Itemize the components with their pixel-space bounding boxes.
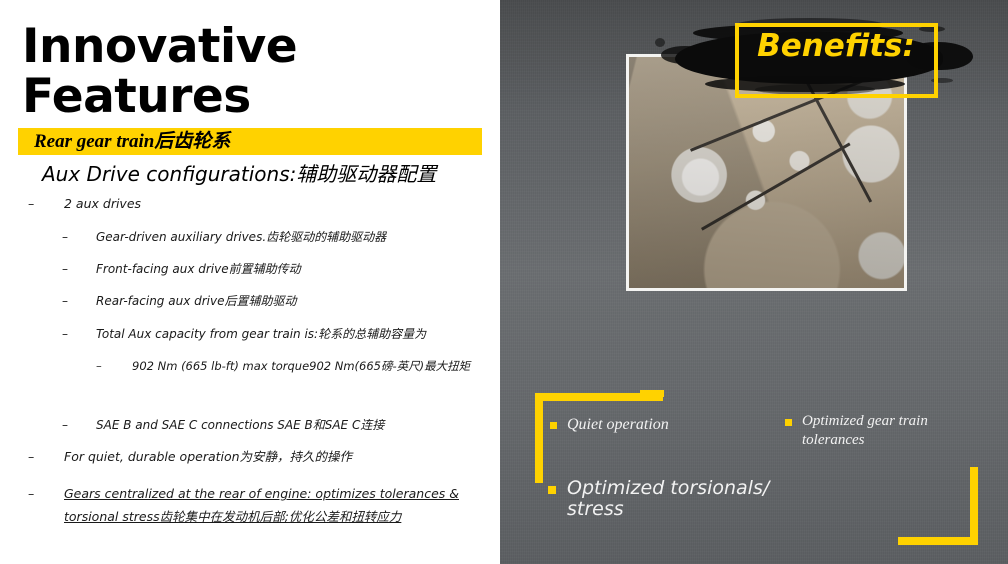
benefit-list-item: Optimized gear train tolerances [785,412,980,450]
list-item-label: 2 aux drives [64,196,478,212]
subtitle-banner-label: Rear gear train后齿轮系 [34,130,230,154]
accent-dash [640,390,664,397]
list-item-label: Front-facing aux drive前置辅助传动 [96,261,482,277]
bullet-dash: – [28,482,34,505]
list-item-label: Rear-facing aux drive后置辅助驱动 [96,293,482,309]
bullet-dash: – [28,196,34,212]
benefits-title: Benefits: [737,28,935,65]
list-item: – Front-facing aux drive前置辅助传动 [62,261,482,277]
list-item-label: For quiet, durable operation为安静，持久的操作 [64,449,478,465]
bullet-dash: – [62,229,68,245]
slide-canvas: Innovative Features Rear gear train后齿轮系 … [0,0,1008,564]
benefit-label: Optimized torsionals/ stress [567,478,808,520]
benefit-label: Quiet operation [567,415,750,435]
list-item: – 902 Nm (665 lb-ft) max torque902 Nm(66… [96,358,486,374]
square-bullet-icon [548,486,556,494]
corner-bracket-top-left-vertical [535,393,543,483]
left-content-panel: Innovative Features Rear gear train后齿轮系 … [0,0,500,564]
page-title-line-1: Innovative [22,22,482,72]
list-item-label: SAE B and SAE C connections SAE B和SAE C连… [96,417,482,433]
subtitle-banner: Rear gear train后齿轮系 [18,128,482,155]
square-bullet-icon [550,422,557,429]
list-item: – Total Aux capacity from gear train is:… [62,326,492,342]
benefit-list-item: Optimized torsionals/ stress [548,478,808,520]
list-item-label: Gears centralized at the rear of engine:… [64,482,483,528]
corner-bracket-bottom-right-vertical [970,467,978,545]
list-item-label: Gear-driven auxiliary drives.齿轮驱动的辅助驱动器 [96,229,482,245]
bullet-dash: – [28,449,34,465]
list-item: – SAE B and SAE C connections SAE B和SAE … [62,417,482,433]
corner-bracket-bottom-right-horizontal [898,537,978,545]
brush-stroke-fleck [655,38,665,47]
bullet-dash: – [62,261,68,277]
list-item: – Rear-facing aux drive后置辅助驱动 [62,293,482,309]
bullet-dash: – [62,417,68,433]
bullet-dash: – [62,293,68,309]
list-item: – 2 aux drives [28,196,478,212]
benefit-label: Optimized gear train tolerances [802,412,980,450]
list-item-label: Total Aux capacity from gear train is:轮系… [96,326,492,342]
square-bullet-icon [785,419,792,426]
bullet-dash: – [96,358,102,374]
page-title-line-2: Features [22,72,482,122]
benefits-badge: Benefits: [675,12,975,112]
list-item-label: 902 Nm (665 lb-ft) max torque902 Nm(665磅… [132,358,486,374]
list-item: – For quiet, durable operation为安静，持久的操作 [28,449,478,465]
list-item: – Gear-driven auxiliary drives.齿轮驱动的辅助驱动… [62,229,482,245]
right-visual-panel: Benefits: Quiet operation Optimized gear… [500,0,1008,564]
benefit-list-item: Quiet operation [550,415,750,435]
list-item: – Gears centralized at the rear of engin… [28,482,483,528]
section-heading: Aux Drive configurations:辅助驱动器配置 [42,161,436,187]
page-title: Innovative Features [22,22,482,122]
bullet-dash: – [62,326,68,342]
